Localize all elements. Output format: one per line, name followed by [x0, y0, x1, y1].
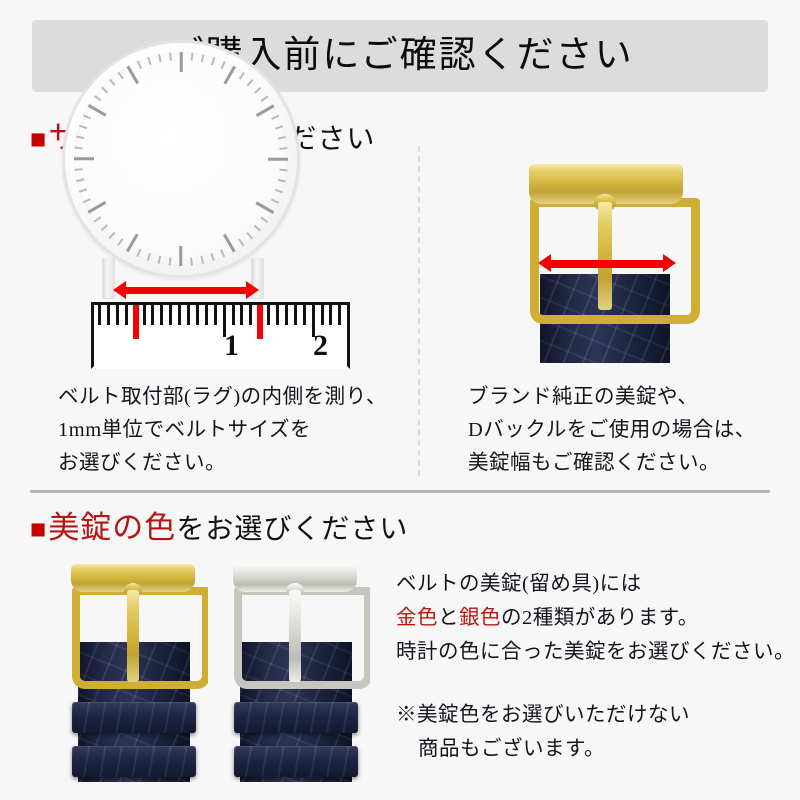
- color-caption-line-3: 時計の色に合った美錠をお選びください。: [396, 635, 795, 669]
- ruler-tick: [125, 305, 128, 325]
- ruler-tick: [169, 305, 172, 325]
- width-caption-line-2: Dバックルをご使用の場合は、: [468, 414, 756, 447]
- hour-marker: [180, 52, 183, 72]
- lug-width-arrow: [113, 281, 259, 299]
- section-heading-buckle-color: ■美錠の色をお選びください: [30, 512, 408, 544]
- size-caption-line-1: ベルト取付部(ラグ)の内側を測り、: [58, 381, 387, 414]
- buckle-frame: [72, 587, 208, 689]
- ruler-tick: [338, 305, 341, 325]
- buckle-width-caption: ブランド純正の美錠や、 Dバックルをご使用の場合は、 美錠幅もご確認ください。: [468, 381, 756, 480]
- ruler-tick: [249, 305, 252, 325]
- ruler-tick: [205, 305, 208, 325]
- hour-marker: [180, 246, 183, 266]
- arrow-shaft: [548, 260, 666, 268]
- column-divider: [418, 146, 420, 476]
- ruler-tick: [240, 305, 243, 325]
- note-line-2-text: 商品もございます。: [418, 738, 605, 760]
- gold-buckle-photo: [60, 560, 208, 782]
- ruler-tick: [187, 305, 190, 325]
- ruler-tick: [196, 305, 199, 325]
- bullet-square-icon: ■: [30, 514, 46, 544]
- strap-keeper-loop: [72, 746, 196, 777]
- conjunction: と: [438, 607, 459, 629]
- note-line-1: ※美錠色をお選びいただけない: [396, 698, 690, 732]
- buckle-width-arrow: [538, 254, 676, 274]
- ruler-number-1: 1: [224, 331, 239, 361]
- strap-keeper-loop: [72, 702, 196, 733]
- size-caption: ベルト取付部(ラグ)の内側を測り、 1mm単位でベルトサイズを お選びください。: [58, 381, 387, 480]
- buckle-tongue: [127, 590, 139, 682]
- ruler-measure-marker: [133, 305, 139, 339]
- ruler-tick: [151, 305, 154, 325]
- note-line-2: 商品もございます。: [396, 732, 690, 766]
- ruler-tick: [285, 305, 288, 325]
- ruler-tick: [160, 305, 163, 325]
- arrow-head-right-icon: [246, 281, 259, 299]
- product-info-graphic: ご購入前にご確認ください ■サイズをお選びください 1 2 ベルト取付部(ラグ)…: [0, 0, 800, 800]
- width-caption-line-1: ブランド純正の美錠や、: [468, 381, 756, 414]
- ruler-tick: [294, 305, 297, 325]
- buckle-width-photo: [470, 158, 770, 363]
- color-caption-line-2: 金色と銀色の2種類があります。: [396, 601, 795, 635]
- section-heading-color-highlight: 美錠の色: [48, 510, 176, 545]
- ruler-tick: [232, 305, 235, 325]
- watch-dial: [74, 52, 288, 266]
- ruler-tick: [267, 305, 270, 325]
- ruler-tick: [276, 305, 279, 325]
- ruler-tick: [116, 305, 119, 325]
- buckle-tongue: [289, 590, 301, 682]
- color-caption-line-2-tail: の2種類があります。: [501, 607, 699, 629]
- size-caption-line-2: 1mm単位でベルトサイズを: [58, 414, 387, 447]
- ruler-tick: [143, 305, 146, 325]
- ruler-tick: [107, 305, 110, 325]
- ruler-tick: [329, 305, 332, 325]
- ruler-number-2: 2: [313, 331, 328, 361]
- watch-lug-measurement-illustration: 1 2: [55, 158, 365, 363]
- ruler-measure-marker: [257, 305, 263, 339]
- ruler-tick: [321, 305, 324, 325]
- ruler-tick: [303, 305, 306, 325]
- hour-marker: [268, 158, 288, 161]
- size-caption-line-3: お選びください。: [58, 447, 387, 480]
- gold-label: 金色: [396, 607, 438, 629]
- silver-label: 銀色: [459, 607, 501, 629]
- section-divider: [30, 490, 770, 493]
- buckle-color-caption: ベルトの美錠(留め具)には 金色と銀色の2種類があります。 時計の色に合った美錠…: [396, 567, 795, 669]
- ruler-tick: [178, 305, 181, 325]
- buckle-frame: [234, 587, 370, 689]
- ruler-tick: [214, 305, 217, 325]
- watch-case-graphic: [62, 40, 300, 278]
- strap-keeper-loop: [234, 746, 358, 777]
- color-caption-line-1: ベルトの美錠(留め具)には: [396, 567, 795, 601]
- ruler-graphic: 1 2: [91, 302, 350, 369]
- buckle-color-note: ※美錠色をお選びいただけない 商品もございます。: [396, 698, 690, 766]
- hour-marker: [74, 158, 94, 161]
- width-caption-line-3: 美錠幅もご確認ください。: [468, 447, 756, 480]
- ruler-tick: [98, 305, 101, 325]
- bullet-square-icon: ■: [30, 124, 46, 154]
- silver-buckle-photo: [222, 560, 370, 782]
- arrow-head-right-icon: [663, 254, 676, 272]
- section-heading-color-rest: をお選びください: [176, 514, 408, 545]
- strap-keeper-loop: [234, 702, 358, 733]
- arrow-shaft: [122, 287, 250, 294]
